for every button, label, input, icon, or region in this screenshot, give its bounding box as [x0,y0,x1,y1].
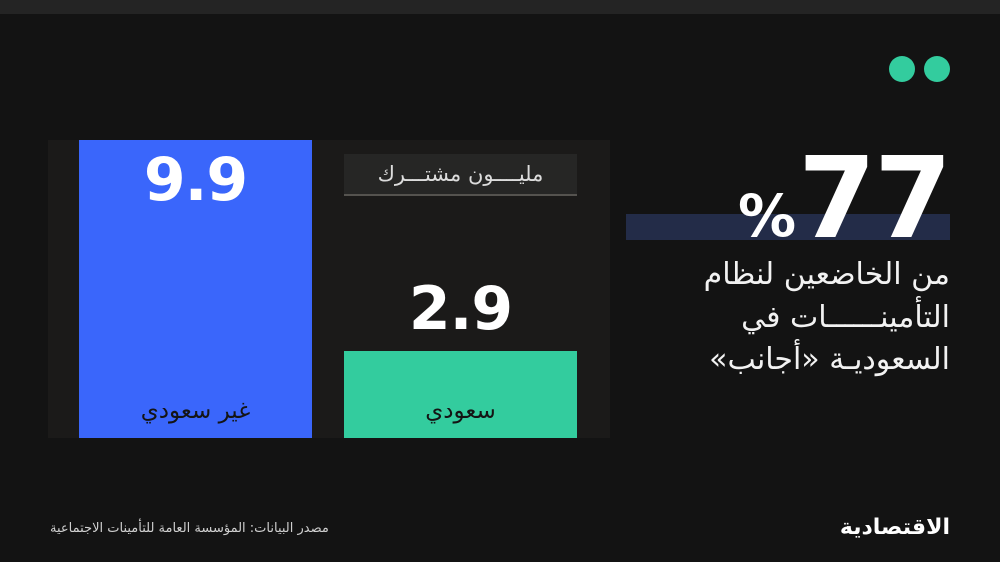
dot-right-icon [924,56,950,82]
bar-saudi: 2.9 سعودي [344,351,577,438]
headline-line-2: التأمينــــــات في [590,297,950,340]
bar-chart-panel: مليــــون مشتـــرك 9.9 غير سعودي 2.9 سعو… [48,140,610,438]
infographic-canvas: مليــــون مشتـــرك 9.9 غير سعودي 2.9 سعو… [0,0,1000,562]
bar-column-non-saudi: 9.9 غير سعودي [79,140,312,438]
decor-dots [889,56,950,82]
bar-label-saudi: سعودي [344,398,577,424]
bar-label-non-saudi: غير سعودي [79,398,312,424]
headline-block: % 77 من الخاضعين لنظام التأمينــــــات ف… [590,118,950,382]
bar-non-saudi: 9.9 غير سعودي [79,140,312,438]
headline-line-3: السعوديـة «أجانب» [590,339,950,382]
top-strip [0,0,1000,14]
bar-value-saudi: 2.9 [344,279,577,339]
bar-column-saudi: 2.9 سعودي [344,140,577,438]
data-source-note: مصدر البيانات: المؤسسة العامة للتأمينات … [50,521,329,536]
stat-line: % 77 [738,154,950,246]
percent-value: 77 [798,154,950,246]
dot-left-icon [889,56,915,82]
percent-sign: % [738,192,796,246]
publisher-logo: الاقتصادية [840,515,950,540]
stat-row: % 77 [590,118,950,240]
bar-value-non-saudi: 9.9 [79,150,312,210]
headline-text: من الخاضعين لنظام التأمينــــــات في الس… [590,254,950,382]
